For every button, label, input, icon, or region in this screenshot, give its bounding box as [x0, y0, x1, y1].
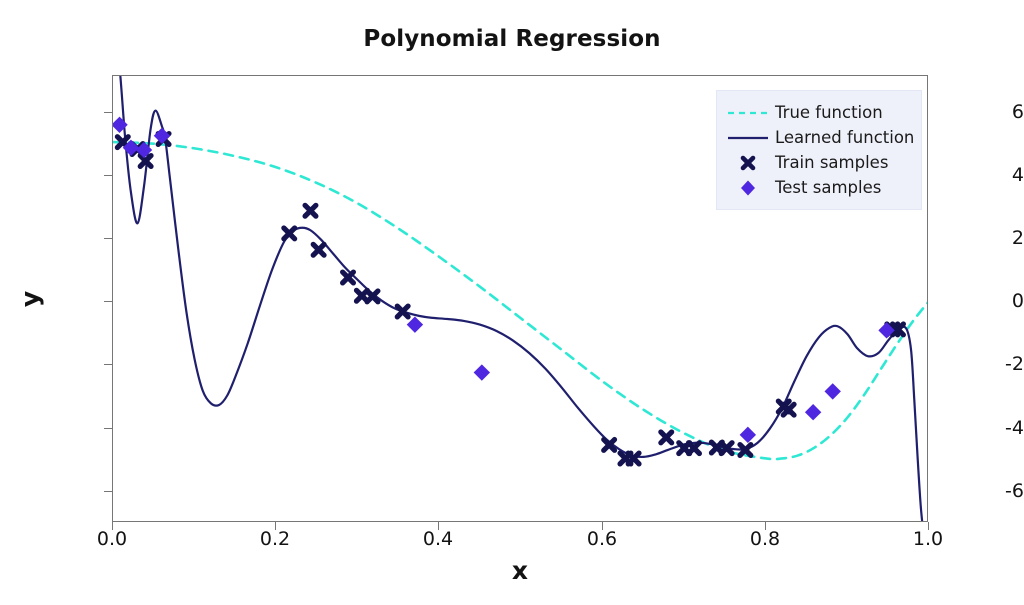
x-tick-label: 0.0 — [72, 528, 152, 550]
train-sample-marker — [313, 244, 324, 255]
test-sample-marker — [740, 427, 756, 443]
legend-label: Test samples — [771, 178, 881, 197]
dashed-line-icon — [725, 103, 771, 123]
x-tick-mark — [765, 522, 766, 530]
y-tick-mark — [104, 175, 112, 176]
legend-label: True function — [771, 103, 883, 122]
x-tick-mark — [275, 522, 276, 530]
legend-item-true-function: True function — [725, 100, 911, 125]
test-sample-marker — [474, 364, 490, 380]
diamond-marker-icon — [725, 178, 771, 198]
train-sample-marker — [661, 432, 672, 443]
y-tick-mark — [104, 364, 112, 365]
train-sample-marker — [305, 205, 316, 216]
solid-line-icon — [725, 128, 771, 148]
legend-label: Learned function — [771, 128, 914, 147]
legend-item-test-samples: Test samples — [725, 175, 911, 200]
y-tick-mark — [104, 301, 112, 302]
y-tick-mark — [104, 428, 112, 429]
x-tick-label: 0.2 — [235, 528, 315, 550]
y-tick-label: -6 — [984, 480, 1024, 502]
x-tick-mark — [112, 522, 113, 530]
y-axis-label: y — [16, 291, 45, 307]
legend-item-train-samples: Train samples — [725, 150, 911, 175]
x-tick-label: 0.4 — [398, 528, 478, 550]
x-tick-mark — [602, 522, 603, 530]
x-tick-mark — [928, 522, 929, 530]
x-marker-icon — [725, 153, 771, 173]
y-tick-label: 0 — [984, 290, 1024, 312]
train-sample-marker — [628, 453, 639, 464]
y-tick-label: 2 — [984, 227, 1024, 249]
y-tick-mark — [104, 238, 112, 239]
x-tick-label: 0.8 — [725, 528, 805, 550]
legend-item-learned-function: Learned function — [725, 125, 911, 150]
y-tick-label: -2 — [984, 353, 1024, 375]
legend-label: Train samples — [771, 153, 888, 172]
train-sample-marker — [343, 272, 354, 283]
chart-figure: Polynomial Regression y x 6 4 2 0 -2 -4 … — [0, 0, 1024, 605]
train-sample-marker — [397, 306, 408, 317]
y-tick-label: 6 — [984, 101, 1024, 123]
test-sample-marker — [805, 404, 821, 420]
x-tick-label: 0.6 — [562, 528, 642, 550]
x-axis-label: x — [512, 556, 528, 585]
train-sample-marker — [689, 443, 700, 454]
train-sample-marker — [284, 228, 295, 239]
y-tick-label: 4 — [984, 164, 1024, 186]
y-tick-label: -4 — [984, 417, 1024, 439]
x-tick-mark — [438, 522, 439, 530]
x-tick-label: 1.0 — [888, 528, 968, 550]
test-sample-marker — [825, 383, 841, 399]
y-tick-mark — [104, 112, 112, 113]
y-tick-mark — [104, 491, 112, 492]
legend: True function Learned function Train sam… — [716, 90, 922, 210]
page-title: Polynomial Regression — [0, 26, 1024, 52]
